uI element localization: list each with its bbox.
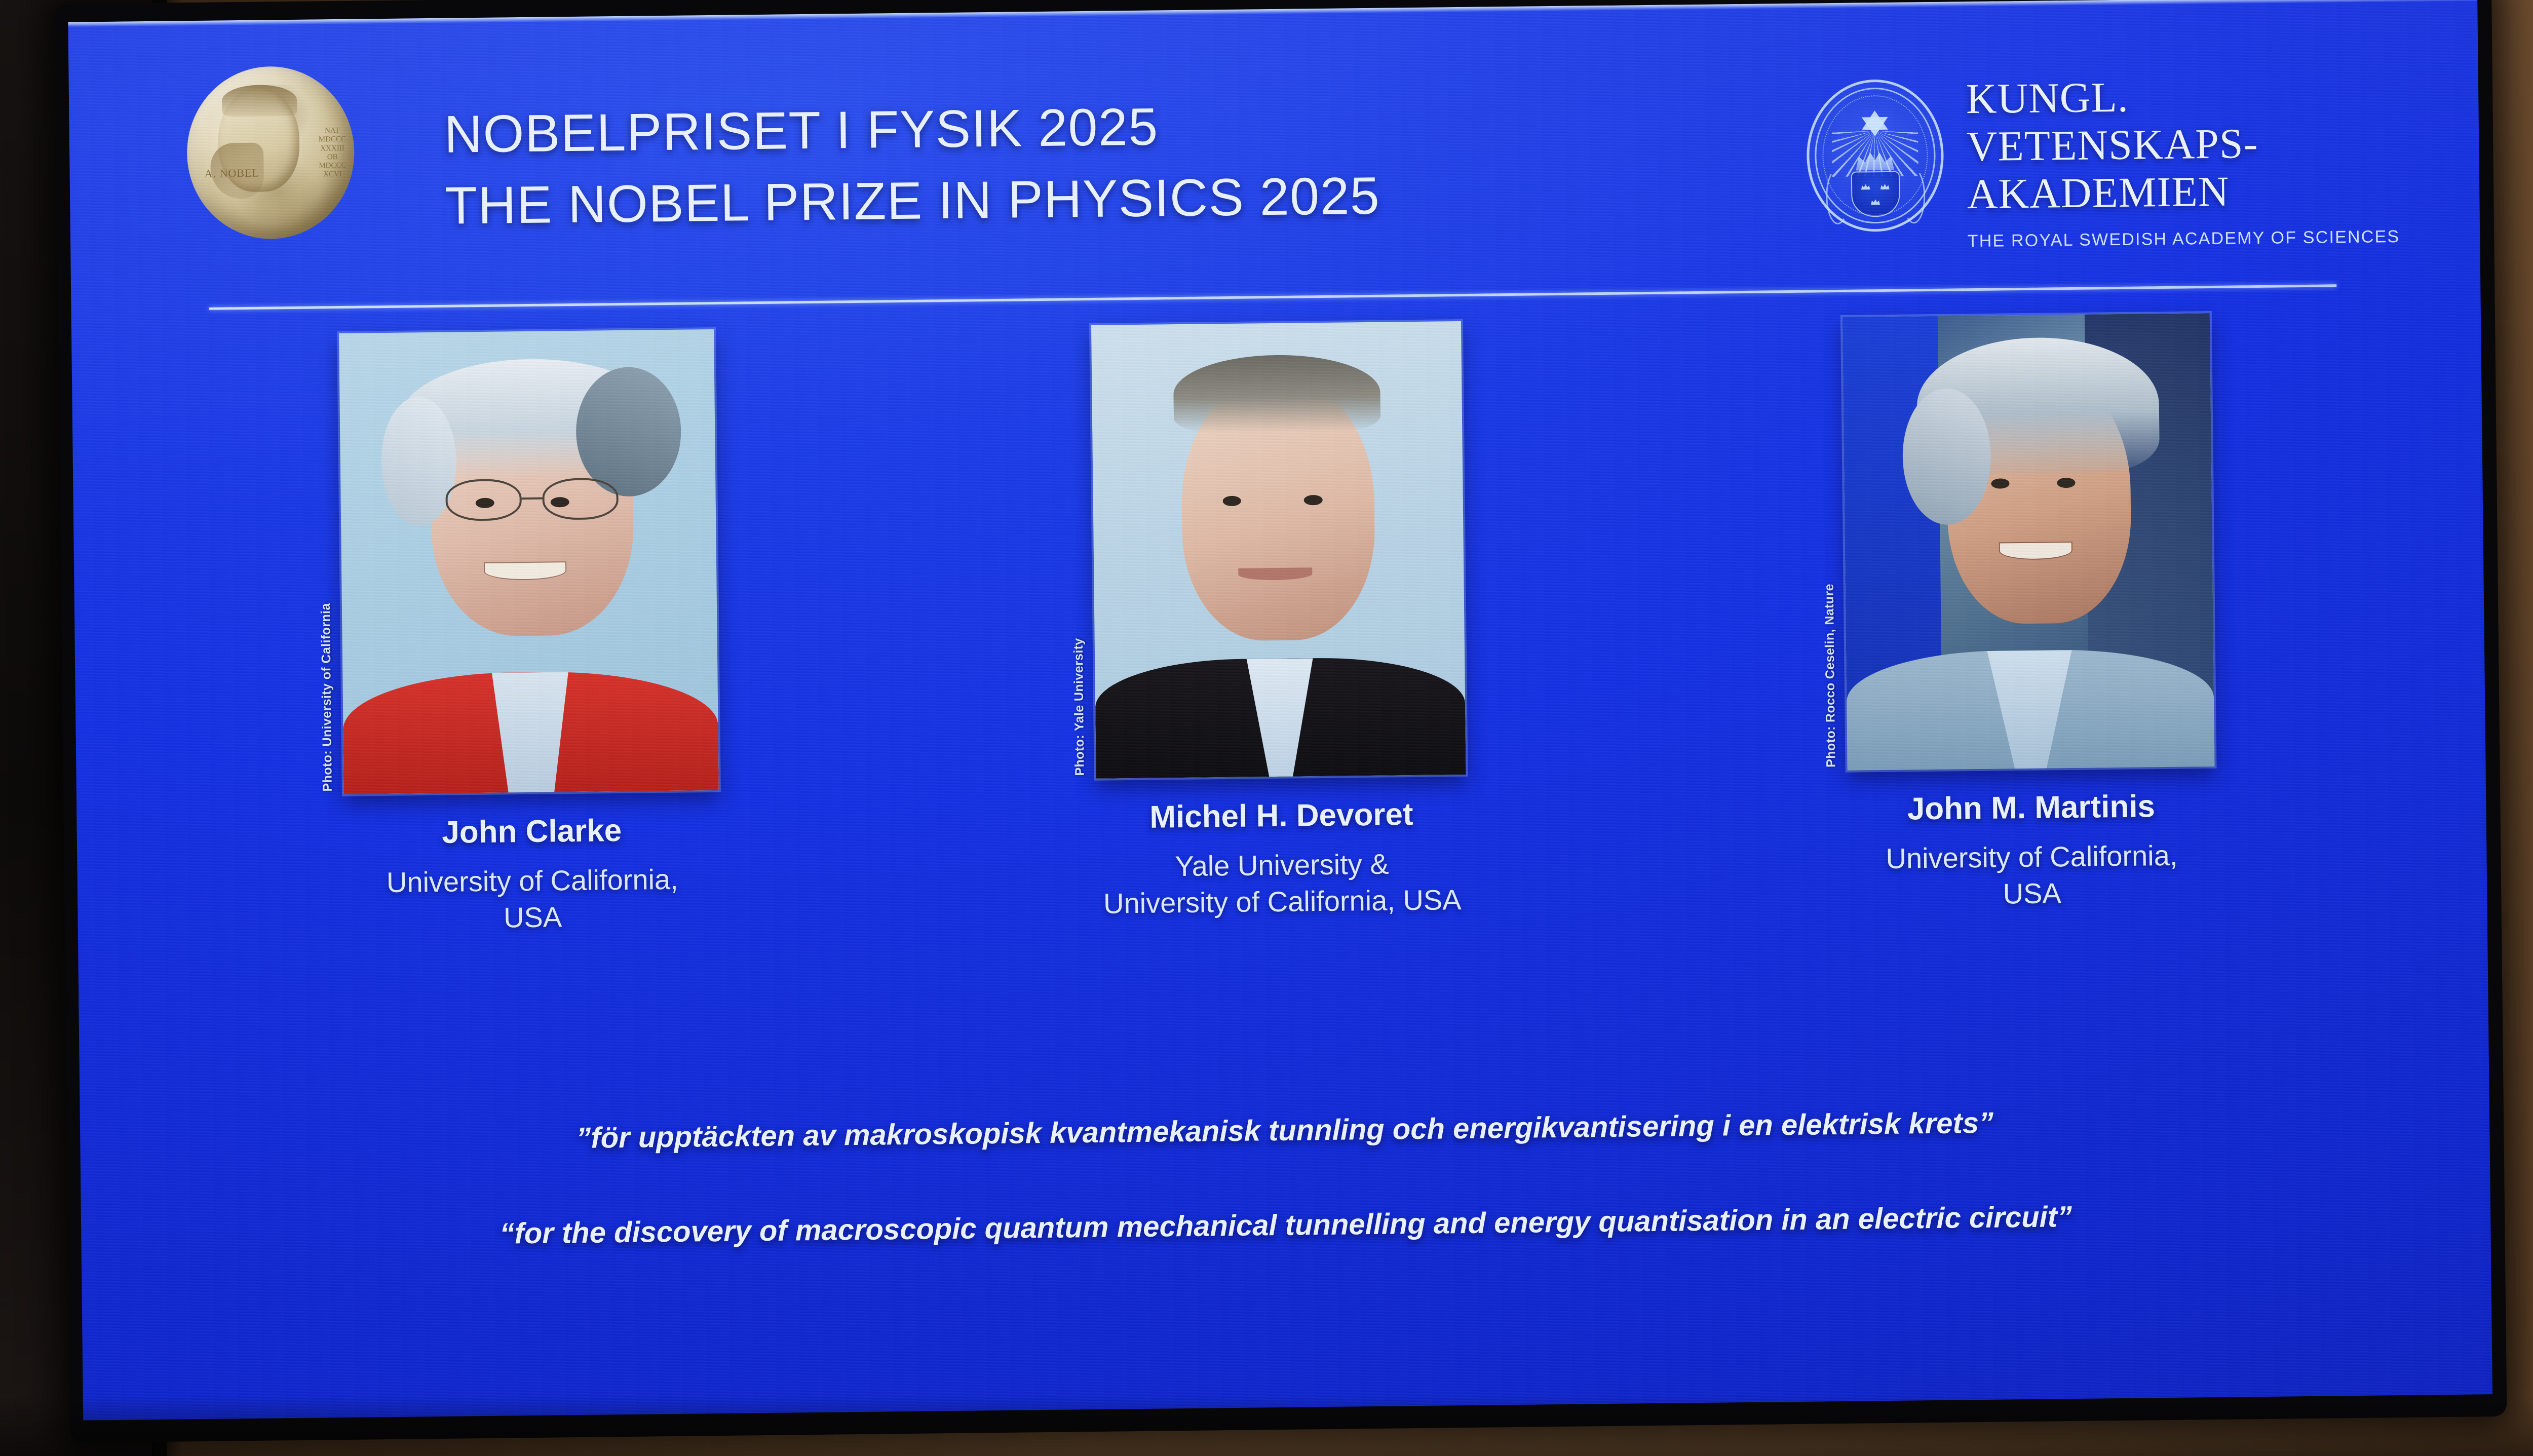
photo-wrapper-3: Photo: Rocco Ceselin, Nature xyxy=(1842,313,2214,771)
portrait-collar-3 xyxy=(1964,650,2097,769)
academy-seal-icon xyxy=(1806,79,1944,233)
portrait-collar-2 xyxy=(1220,658,1340,777)
nobel-prize-slide: A. NOBEL NATMDCCCXXXIIIOBMDCCCXCVI NOBEL… xyxy=(68,0,2492,1421)
laureate-affiliation-1: University of California, USA xyxy=(387,861,679,937)
portrait-glasses-icon xyxy=(445,478,618,521)
laureate-affiliation-2: Yale University & University of Californ… xyxy=(1103,845,1462,922)
photo-wrapper-2: Photo: Yale University xyxy=(1091,321,1466,779)
laureate-portrait-1 xyxy=(339,329,719,794)
academy-subtitle: THE ROYAL SWEDISH ACADEMY OF SCIENCES xyxy=(1968,227,2400,251)
academy-logo: KUNGL. VETENSKAPS- AKADEMIEN THE ROYAL S… xyxy=(1806,69,2400,253)
portrait-torso-3 xyxy=(1846,648,2214,771)
seal-rays-icon xyxy=(1831,130,1918,177)
academy-line-3: AKADEMIEN xyxy=(1967,166,2399,218)
medal-hair-shape xyxy=(222,85,297,117)
laureate-portrait-3 xyxy=(1842,313,2214,771)
seal-shield-icon xyxy=(1851,171,1900,217)
title-english: THE NOBEL PRIZE IN PHYSICS 2025 xyxy=(445,161,1380,242)
presentation-screen: A. NOBEL NATMDCCCXXXIIIOBMDCCCXCVI NOBEL… xyxy=(68,0,2492,1421)
affiliation-line-1: Yale University & xyxy=(1103,845,1461,885)
portrait-collar-1 xyxy=(467,672,595,793)
title-swedish: NOBELPRISET I FYSIK 2025 xyxy=(444,89,1379,171)
academy-line-2: VETENSKAPS- xyxy=(1966,119,2399,171)
citations-block: ”för upptäckten av makroskopisk kvantmek… xyxy=(80,1100,2490,1255)
affiliation-line-2: USA xyxy=(387,897,678,937)
title-block: NOBELPRISET I FYSIK 2025 THE NOBEL PRIZE… xyxy=(444,89,1380,243)
floor-shadow xyxy=(0,1395,2533,1456)
room-background: A. NOBEL NATMDCCCXXXIIIOBMDCCCXCVI NOBEL… xyxy=(0,0,2533,1456)
seal-star-icon xyxy=(1861,110,1888,130)
academy-line-1: KUNGL. xyxy=(1966,71,2398,123)
portrait-eye-left-3 xyxy=(1991,478,2009,488)
glasses-lens-right xyxy=(542,478,619,520)
nobel-medal-icon: A. NOBEL NATMDCCCXXXIIIOBMDCCCXCVI xyxy=(186,66,355,240)
affiliation-line-1: University of California, xyxy=(387,861,678,901)
photo-credit-1: Photo: University of California xyxy=(319,603,335,791)
portrait-eye-right-2 xyxy=(1304,495,1323,505)
laureate-name-2: Michel H. Devoret xyxy=(1149,796,1413,835)
laureate-card-3: Photo: Rocco Ceselin, Nature xyxy=(1735,312,2324,915)
laureate-affiliation-3: University of California, USA xyxy=(1886,837,2178,913)
seal-three-crowns-3 xyxy=(1871,199,1880,205)
laureate-card-2: Photo: Yale University xyxy=(985,320,1574,923)
seal-wreath-right-icon xyxy=(1901,168,1925,223)
laureate-portrait-2 xyxy=(1091,321,1466,779)
tv-bezel: A. NOBEL NATMDCCCXXXIIIOBMDCCCXCVI NOBEL… xyxy=(55,0,2507,1443)
academy-text-block: KUNGL. VETENSKAPS- AKADEMIEN THE ROYAL S… xyxy=(1966,69,2400,251)
photo-credit-3: Photo: Rocco Ceselin, Nature xyxy=(1822,584,1838,768)
slide-header: A. NOBEL NATMDCCCXXXIIIOBMDCCCXCVI NOBEL… xyxy=(68,0,2480,326)
seal-crown-icon xyxy=(1856,151,1894,171)
laureate-name-3: John M. Martinis xyxy=(1907,788,2155,827)
portrait-torso-2 xyxy=(1095,657,1466,779)
affiliation-line-2: University of California, USA xyxy=(1103,882,1462,922)
glasses-lens-left xyxy=(445,479,522,521)
affiliation-line-2: USA xyxy=(1886,873,2178,913)
laureates-row: Photo: University of California xyxy=(71,310,2487,940)
glasses-bridge xyxy=(522,497,543,500)
seal-three-crowns-2 xyxy=(1880,183,1890,189)
header-divider xyxy=(209,284,2336,310)
portrait-torso-1 xyxy=(342,670,719,794)
laureate-card-1: Photo: University of California xyxy=(235,328,824,939)
seal-three-crowns-1 xyxy=(1861,183,1870,189)
affiliation-line-1: University of California, xyxy=(1886,837,2177,877)
seal-wreath-left-icon xyxy=(1825,169,1849,224)
citation-english: “for the discovery of macroscopic quantu… xyxy=(81,1195,2490,1255)
medal-inscription-right: NATMDCCCXXXIIIOBMDCCCXCVI xyxy=(318,127,346,179)
citation-swedish: ”för upptäckten av makroskopisk kvantmek… xyxy=(80,1100,2489,1160)
photo-credit-2: Photo: Yale University xyxy=(1071,638,1088,776)
laureate-name-1: John Clarke xyxy=(442,813,622,851)
photo-wrapper-1: Photo: University of California xyxy=(339,329,719,794)
medal-inscription-left: A. NOBEL xyxy=(205,167,259,179)
portrait-eye-left-2 xyxy=(1222,496,1241,506)
